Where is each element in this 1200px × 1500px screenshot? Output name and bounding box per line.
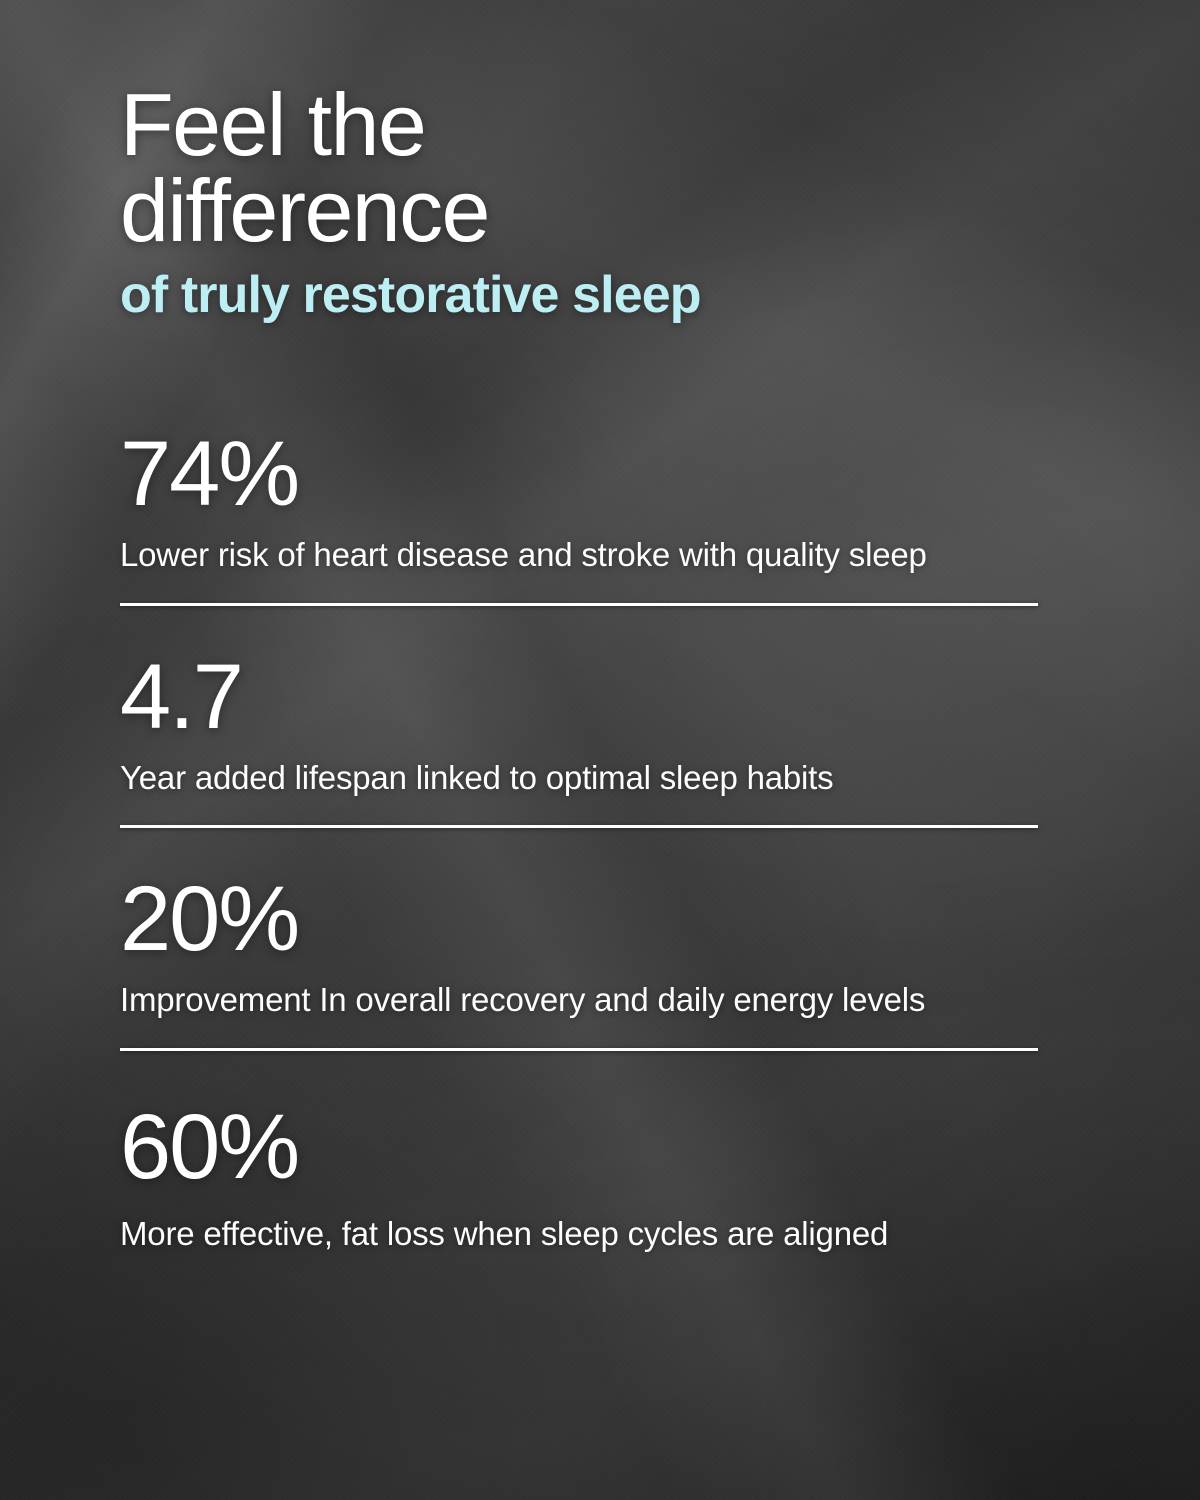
stats-list: 74% Lower risk of heart disease and stro… — [120, 430, 1038, 1273]
stat-value: 60% — [120, 1103, 1038, 1191]
stat-description: Lower risk of heart disease and stroke w… — [120, 534, 1000, 576]
stat-item: 60% More effective, fat loss when sleep … — [120, 1103, 1038, 1274]
stat-divider — [120, 603, 1038, 606]
stat-value: 20% — [120, 875, 1038, 963]
stat-description: More effective, fat loss when sleep cycl… — [120, 1213, 1000, 1255]
page-subtitle: of truly restorative sleep — [120, 268, 1080, 322]
headline-block: Feel the difference of truly restorative… — [120, 82, 1080, 323]
headline-line-1: Feel the — [120, 75, 425, 174]
stat-value: 74% — [120, 430, 1038, 518]
stat-divider — [120, 1048, 1038, 1051]
stat-item: 4.7 Year added lifespan linked to optima… — [120, 653, 1038, 847]
page-title: Feel the difference — [120, 82, 1080, 254]
headline-line-2: difference — [120, 168, 1080, 254]
stat-item: 20% Improvement In overall recovery and … — [120, 875, 1038, 1069]
stat-divider — [120, 825, 1038, 828]
stat-value: 4.7 — [120, 653, 1038, 741]
stat-description: Improvement In overall recovery and dail… — [120, 979, 1000, 1021]
stat-item: 74% Lower risk of heart disease and stro… — [120, 430, 1038, 624]
poster-canvas: Feel the difference of truly restorative… — [0, 0, 1200, 1500]
stat-description: Year added lifespan linked to optimal sl… — [120, 757, 1000, 799]
poster-content: Feel the difference of truly restorative… — [0, 0, 1200, 1500]
